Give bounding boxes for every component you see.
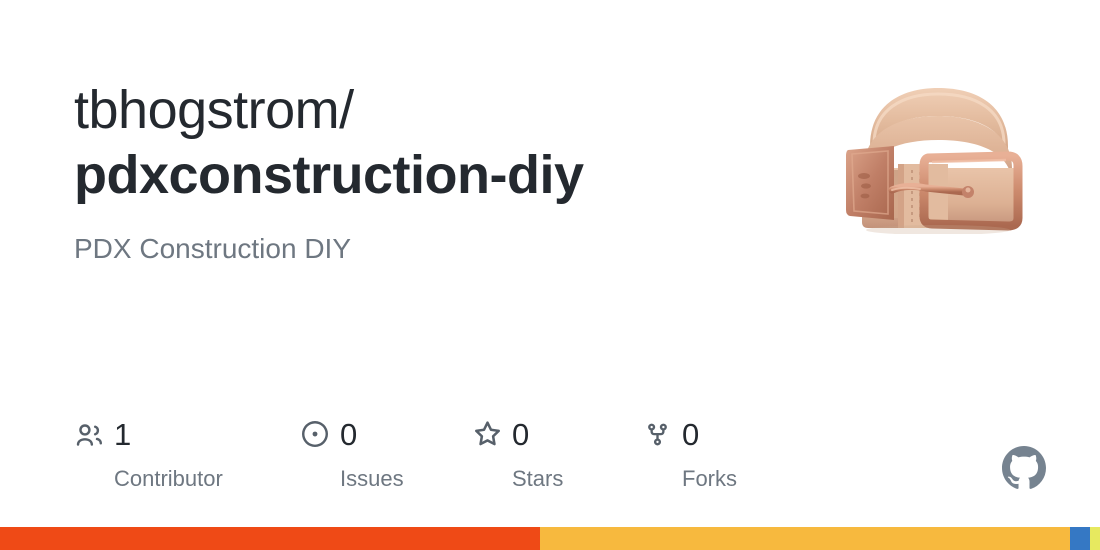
repo-forked-icon bbox=[642, 419, 672, 449]
stat-stars-top: 0 bbox=[472, 416, 529, 452]
language-segment-blue bbox=[1070, 527, 1090, 550]
stat-contributors[interactable]: 1 Contributor bbox=[74, 416, 238, 492]
repository-owner[interactable]: tbhogstrom/ bbox=[74, 78, 774, 143]
stat-contributors-count: 1 bbox=[114, 419, 131, 450]
stat-forks-count: 0 bbox=[682, 419, 699, 450]
repository-social-preview-card: tbhogstrom/ pdxconstruction-diy PDX Cons… bbox=[0, 0, 1100, 550]
stat-contributors-label: Contributor bbox=[74, 452, 223, 492]
stat-issues-count: 0 bbox=[340, 419, 357, 450]
language-segment-lime bbox=[1090, 527, 1100, 550]
language-segment-orange bbox=[0, 527, 540, 550]
belt-product-image bbox=[832, 72, 1044, 234]
repository-stats: 1 Contributor 0 Issues bbox=[74, 416, 737, 492]
stat-issues-label: Issues bbox=[300, 452, 404, 492]
star-icon bbox=[472, 419, 502, 449]
stat-forks[interactable]: 0 Forks bbox=[642, 416, 737, 492]
stat-issues[interactable]: 0 Issues bbox=[300, 416, 410, 492]
github-logo-icon bbox=[1002, 446, 1046, 490]
people-icon bbox=[74, 419, 104, 449]
stat-stars-count: 0 bbox=[512, 419, 529, 450]
stat-forks-top: 0 bbox=[642, 416, 699, 452]
stat-issues-top: 0 bbox=[300, 416, 357, 452]
language-bar bbox=[0, 527, 1100, 550]
stat-stars[interactable]: 0 Stars bbox=[472, 416, 580, 492]
page-title: tbhogstrom/ pdxconstruction-diy bbox=[74, 78, 774, 209]
repository-header: tbhogstrom/ pdxconstruction-diy PDX Cons… bbox=[74, 78, 774, 267]
stat-forks-label: Forks bbox=[642, 452, 737, 492]
repository-name[interactable]: pdxconstruction-diy bbox=[74, 143, 774, 208]
language-segment-yellow bbox=[540, 527, 1070, 550]
stat-stars-label: Stars bbox=[472, 452, 563, 492]
repository-description: PDX Construction DIY bbox=[74, 209, 774, 267]
stat-contributors-top: 1 bbox=[74, 416, 131, 452]
issue-opened-icon bbox=[300, 419, 330, 449]
